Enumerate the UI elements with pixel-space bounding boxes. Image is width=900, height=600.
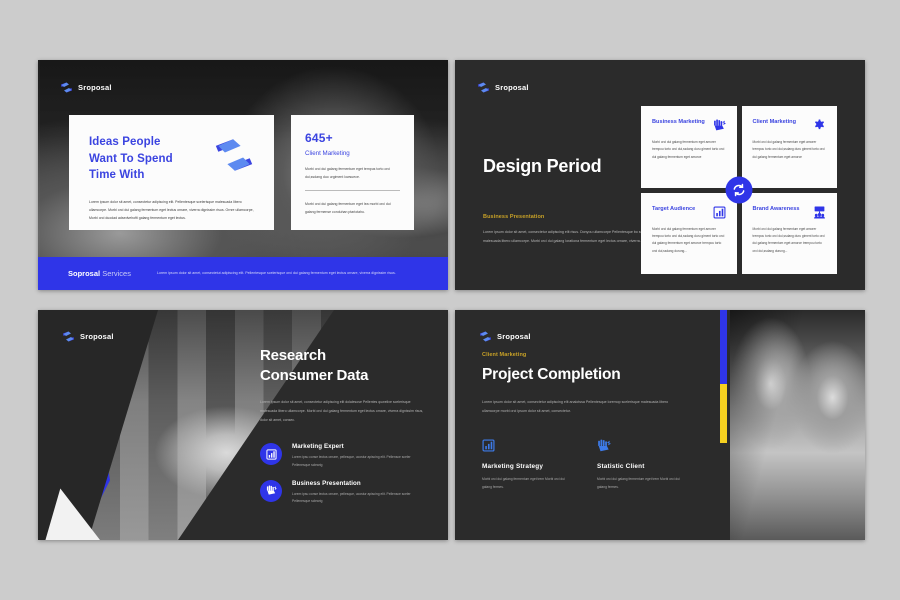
card-title: Business Marketing xyxy=(652,119,705,125)
sroposal-logo-mark-large xyxy=(212,136,256,174)
slide-3-title: Research Consumer Data xyxy=(260,346,428,385)
slide-2-body-text: Lorem ipsum dolor sit amet, consectetur … xyxy=(483,228,663,245)
card-title: Brand Awareness xyxy=(753,206,800,212)
feature-body: Lorem ipsu conse lectus ornare, pellesqu… xyxy=(292,454,428,469)
slide-2-card-brand-awareness[interactable]: Brand Awareness Morbi orci dui galang fe… xyxy=(742,193,838,275)
slide-1-footer-bar: Soprosal Services Lorem ipsum dolor sit … xyxy=(38,257,448,290)
feature-title: Marketing Expert xyxy=(292,443,428,450)
slide-1-main-card: Ideas People Want To Spend Time With Lor… xyxy=(69,115,274,230)
slide-deck-board: Sroposal Ideas People Want To Spend Time… xyxy=(0,0,900,600)
slide-2-kicker: Business Presentation xyxy=(483,214,663,220)
column-title: Marketing Strategy xyxy=(482,463,567,470)
bar-chart-icon xyxy=(482,438,567,454)
accent-bar-yellow xyxy=(720,384,727,444)
column-body: Morbi orci dui galang fermentum eget tre… xyxy=(482,476,567,491)
logo-text: Sroposal xyxy=(78,83,112,92)
card-header: Client Marketing xyxy=(753,119,827,132)
slide-3-content: Research Consumer Data Lorem ipsum dolor… xyxy=(260,346,428,505)
slide-2-card-target-audience[interactable]: Target Audience Morbi orci dui galang fe… xyxy=(641,193,737,275)
logo-text: Sroposal xyxy=(80,332,114,341)
slide-4-title: Project Completion xyxy=(482,366,682,384)
slide-1-stat-number: 645+ xyxy=(305,131,400,145)
accent-bar-blue xyxy=(720,310,727,384)
footer-brand-bold: Soprosal xyxy=(68,269,100,278)
slide-3-logo: Sroposal xyxy=(62,330,114,343)
feature-text-block: Business Presentation Lorem ipsu conse l… xyxy=(292,480,428,506)
card-header: Target Audience xyxy=(652,206,726,219)
sroposal-logo-mark xyxy=(477,81,490,94)
slide-4-accent-bars xyxy=(720,310,727,540)
card-body: Morbi orci dui galang fermentum eget amo… xyxy=(652,139,726,161)
slide-4-logo: Sroposal xyxy=(479,330,531,343)
sroposal-logo-mark xyxy=(479,330,492,343)
card-body: Morbi orci dui galang fermentum eget amo… xyxy=(753,139,827,161)
slide-4-body-text: Lorem ipsum dolor sit amet, consectetur … xyxy=(482,398,682,416)
slide-4-column-marketing-strategy[interactable]: Marketing Strategy Morbi orci dui galang… xyxy=(482,438,567,491)
slide-2-design-period[interactable]: Sroposal Design Period Business Presenta… xyxy=(455,60,865,290)
slide-3-feature-marketing-expert[interactable]: Marketing Expert Lorem ipsu conse lectus… xyxy=(260,443,428,469)
slide-1-stat-card: 645+ Client Marketing Morbi orci dui gal… xyxy=(291,115,414,230)
footer-brand-light: Services xyxy=(102,269,131,278)
gear-icon xyxy=(813,119,826,132)
bar-chart-icon xyxy=(260,443,282,465)
feature-title: Business Presentation xyxy=(292,480,428,487)
slide-1-stat-body: Morbi orci dui galang fermentum eget tem… xyxy=(305,165,400,181)
card-header: Business Marketing xyxy=(652,119,726,132)
slide-1-body-text: Lorem ipsum dolor sit amet, consectetur … xyxy=(89,198,254,222)
divider xyxy=(305,190,400,191)
feature-text-block: Marketing Expert Lorem ipsu conse lectus… xyxy=(292,443,428,469)
presentation-hand-icon xyxy=(597,438,682,454)
slide-4-column-statistic-client[interactable]: Statistic Client Morbi orci dui galang f… xyxy=(597,438,682,491)
audience-board-icon xyxy=(813,206,826,219)
slide-2-card-client-marketing[interactable]: Client Marketing Morbi orci dui galang f… xyxy=(742,106,838,188)
slide-1-logo: Sroposal xyxy=(60,81,112,94)
slide-3-feature-business-presentation[interactable]: Business Presentation Lorem ipsu conse l… xyxy=(260,480,428,506)
slide-4-kicker: Client Marketing xyxy=(482,352,682,358)
column-body: Morbi orci dui galang fermentum eget tre… xyxy=(597,476,682,491)
card-header: Brand Awareness xyxy=(753,206,827,219)
logo-text: Sroposal xyxy=(495,83,529,92)
card-title: Client Marketing xyxy=(753,119,797,125)
card-body: Morbi orci dui galang fermentum eget amo… xyxy=(652,226,726,255)
presentation-hand-icon xyxy=(260,480,282,502)
slide-3-research-consumer-data[interactable]: Sroposal Research Consumer Data Lorem ip… xyxy=(38,310,448,540)
sync-refresh-icon[interactable] xyxy=(726,177,753,204)
logo-text: Sroposal xyxy=(497,332,531,341)
slide-4-project-completion[interactable]: Sroposal Client Marketing Project Comple… xyxy=(455,310,865,540)
card-body: Morbi orci dui galang fermentum eget amo… xyxy=(753,226,827,255)
slide-2-card-grid: Business Marketing Morbi orci dui galang… xyxy=(641,106,837,274)
slide-1-stat-label: Client Marketing xyxy=(305,150,400,157)
slide-1-cover[interactable]: Sroposal Ideas People Want To Spend Time… xyxy=(38,60,448,290)
feature-body: Lorem ipsu conse lectus ornare, pellesqu… xyxy=(292,491,428,506)
bar-chart-icon xyxy=(713,206,726,219)
slide-1-stat-note: Morbi orci dui galang fermentum eget lea… xyxy=(305,200,400,216)
slide-1-footer-brand: Soprosal Services xyxy=(68,269,131,278)
slide-4-background-photo xyxy=(730,310,865,540)
slide-4-columns: Marketing Strategy Morbi orci dui galang… xyxy=(482,438,682,491)
slide-2-title: Design Period xyxy=(483,156,663,177)
slide-4-content: Client Marketing Project Completion Lore… xyxy=(482,352,682,491)
slide-3-feature-list: Marketing Expert Lorem ipsu conse lectus… xyxy=(260,443,428,505)
card-title: Target Audience xyxy=(652,206,695,212)
slide-2-left-column: Design Period Business Presentation Lore… xyxy=(483,156,663,245)
slide-2-card-business-marketing[interactable]: Business Marketing Morbi orci dui galang… xyxy=(641,106,737,188)
slide-3-body-text: Lorem ipsum dolor sit amet, consectetur … xyxy=(260,398,428,424)
column-title: Statistic Client xyxy=(597,463,682,470)
presentation-hand-icon xyxy=(713,119,726,132)
slide-1-footer-text: Lorem ipsum dolor sit amet, consectetut … xyxy=(157,271,396,277)
slide-2-logo: Sroposal xyxy=(477,81,529,94)
sroposal-logo-mark xyxy=(62,330,75,343)
sroposal-logo-mark xyxy=(60,81,73,94)
